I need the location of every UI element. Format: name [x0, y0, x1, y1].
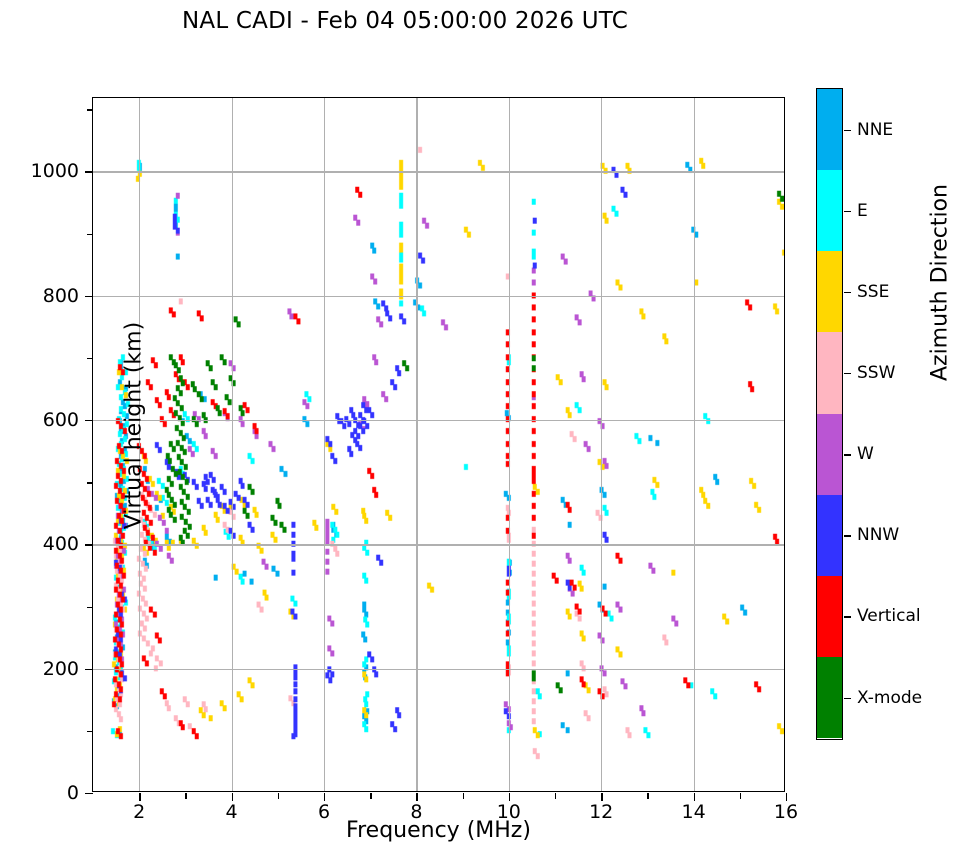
y-axis-title: Virtual height (km) — [122, 276, 147, 576]
colorbar-tick — [844, 454, 851, 455]
colorbar-label-nne: NNE — [857, 120, 893, 140]
x-tick-minor — [740, 793, 741, 799]
gridline-vertical — [694, 98, 695, 791]
colorbar-tick — [844, 292, 851, 293]
x-tick-major — [694, 793, 695, 801]
gridline-vertical — [509, 98, 510, 791]
x-axis-title: Frequency (MHz) — [92, 818, 785, 843]
gridline-horizontal — [93, 544, 784, 545]
x-tick-minor — [278, 793, 279, 799]
y-tick-minor — [87, 358, 93, 359]
y-tick-label: 400 — [43, 533, 79, 555]
colorbar[interactable]: NNEESSESSWWNNWVerticalX-mode — [816, 88, 843, 740]
y-tick-minor — [87, 234, 93, 235]
y-tick-minor — [87, 109, 93, 110]
x-tick-major — [786, 793, 787, 801]
y-tick-major — [85, 669, 93, 670]
y-tick-major — [85, 420, 93, 421]
colorbar-label-e: E — [857, 201, 868, 221]
colorbar-tick — [844, 535, 851, 536]
y-tick-label: 600 — [43, 409, 79, 431]
colorbar-segment-nne[interactable] — [817, 89, 842, 170]
colorbar-label-vertical: Vertical — [857, 606, 921, 626]
x-tick-minor — [185, 793, 186, 799]
colorbar-segment-ssw[interactable] — [817, 332, 842, 413]
y-tick-major — [85, 793, 93, 794]
x-tick-major — [232, 793, 233, 801]
gridline-horizontal — [93, 420, 784, 421]
colorbar-tick — [844, 211, 851, 212]
gridline-horizontal — [93, 171, 784, 172]
colorbar-label-x-mode: X-mode — [857, 688, 922, 708]
x-tick-minor — [463, 793, 464, 799]
colorbar-label-ssw: SSW — [857, 363, 895, 383]
gridline-vertical — [416, 98, 417, 791]
gridline-vertical — [232, 98, 233, 791]
gridline-horizontal — [93, 669, 784, 670]
y-tick-minor — [87, 731, 93, 732]
colorbar-tick — [844, 130, 851, 131]
scatter-canvas — [93, 98, 784, 791]
colorbar-segment-w[interactable] — [817, 414, 842, 495]
x-tick-major — [324, 793, 325, 801]
colorbar-tick — [844, 373, 851, 374]
x-tick-minor — [647, 793, 648, 799]
x-tick-minor — [555, 793, 556, 799]
plot-area: 24681012141602004006008001000 — [92, 97, 785, 792]
colorbar-segment-x-mode[interactable] — [817, 657, 842, 738]
colorbar-segment-vertical[interactable] — [817, 576, 842, 657]
colorbar-label-w: W — [857, 444, 874, 464]
y-tick-label: 800 — [43, 285, 79, 307]
y-tick-label: 0 — [67, 782, 79, 804]
y-tick-label: 200 — [43, 658, 79, 680]
y-tick-major — [85, 544, 93, 545]
y-tick-minor — [87, 482, 93, 483]
gridline-horizontal — [93, 296, 784, 297]
colorbar-title: Azimuth Direction — [928, 133, 953, 433]
gridline-vertical — [324, 98, 325, 791]
y-tick-minor — [87, 607, 93, 608]
x-tick-minor — [370, 793, 371, 799]
colorbar-label-sse: SSE — [857, 282, 889, 302]
x-tick-major — [601, 793, 602, 801]
colorbar-tick — [844, 616, 851, 617]
x-tick-major — [139, 793, 140, 801]
colorbar-tick — [844, 698, 851, 699]
x-tick-major — [416, 793, 417, 801]
chart-title: NAL CADI - Feb 04 05:00:00 2026 UTC — [0, 8, 810, 34]
y-tick-label: 1000 — [31, 160, 79, 182]
y-tick-major — [85, 296, 93, 297]
colorbar-segment-nnw[interactable] — [817, 495, 842, 576]
gridline-vertical — [601, 98, 602, 791]
colorbar-segment-e[interactable] — [817, 170, 842, 251]
colorbar-label-nnw: NNW — [857, 525, 899, 545]
x-tick-major — [509, 793, 510, 801]
colorbar-segment-sse[interactable] — [817, 251, 842, 332]
y-tick-major — [85, 171, 93, 172]
